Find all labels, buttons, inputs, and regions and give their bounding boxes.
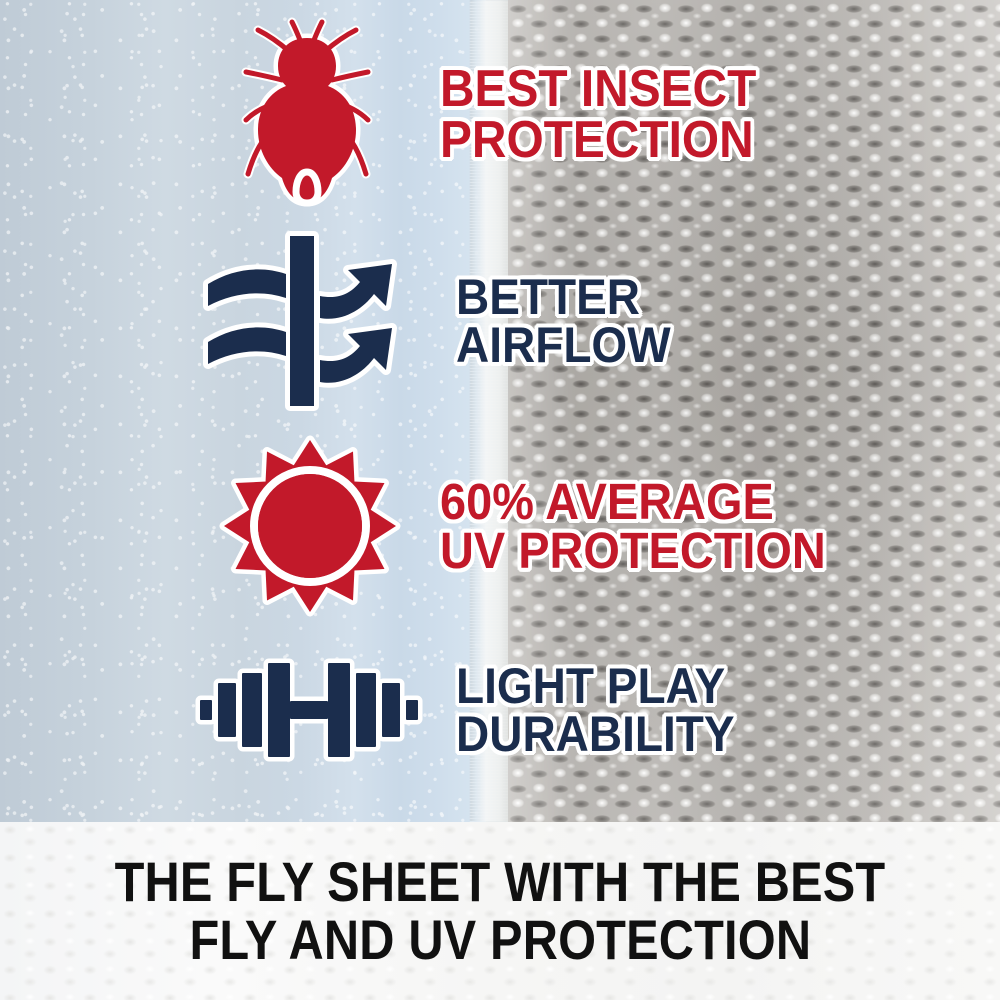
tagline-line-2: FLY AND UV PROTECTION xyxy=(189,911,811,969)
dumbbell-icon xyxy=(196,655,422,765)
feature-list: BEST INSECT PROTECTION xyxy=(0,0,1000,822)
feature-item-airflow: BETTER AIRFLOW xyxy=(200,240,689,402)
feature-label-line-2: UV PROTECTION xyxy=(440,526,826,575)
feature-label-line-1: LIGHT PLAY xyxy=(456,662,735,711)
product-feature-infographic: BEST INSECT PROTECTION xyxy=(0,0,1000,1000)
feature-item-insect-protection: BEST INSECT PROTECTION xyxy=(232,22,784,207)
sun-icon xyxy=(222,438,398,614)
feature-label-airflow: BETTER AIRFLOW xyxy=(456,273,671,370)
feature-label-line-1: 60% AVERAGE xyxy=(440,477,826,526)
feature-label-uv-protection: 60% AVERAGE UV PROTECTION xyxy=(440,477,826,576)
feature-label-line-2: DURABILITY xyxy=(456,710,735,759)
tagline-line-1: THE FLY SHEET WITH THE BEST xyxy=(115,853,886,911)
airflow-icon xyxy=(200,240,422,402)
fly-icon xyxy=(232,22,382,207)
feature-label-line-2: AIRFLOW xyxy=(456,321,671,370)
feature-item-uv-protection: 60% AVERAGE UV PROTECTION xyxy=(222,438,859,614)
feature-label-line-1: BEST INSECT xyxy=(440,64,756,114)
feature-item-durability: LIGHT PLAY DURABILITY xyxy=(196,655,759,765)
feature-label-insect-protection: BEST INSECT PROTECTION xyxy=(440,64,756,165)
feature-label-line-1: BETTER xyxy=(456,273,671,322)
feature-label-durability: LIGHT PLAY DURABILITY xyxy=(456,662,735,759)
bottom-tagline-banner: THE FLY SHEET WITH THE BEST FLY AND UV P… xyxy=(0,822,1000,1000)
feature-label-line-2: PROTECTION xyxy=(440,115,756,165)
